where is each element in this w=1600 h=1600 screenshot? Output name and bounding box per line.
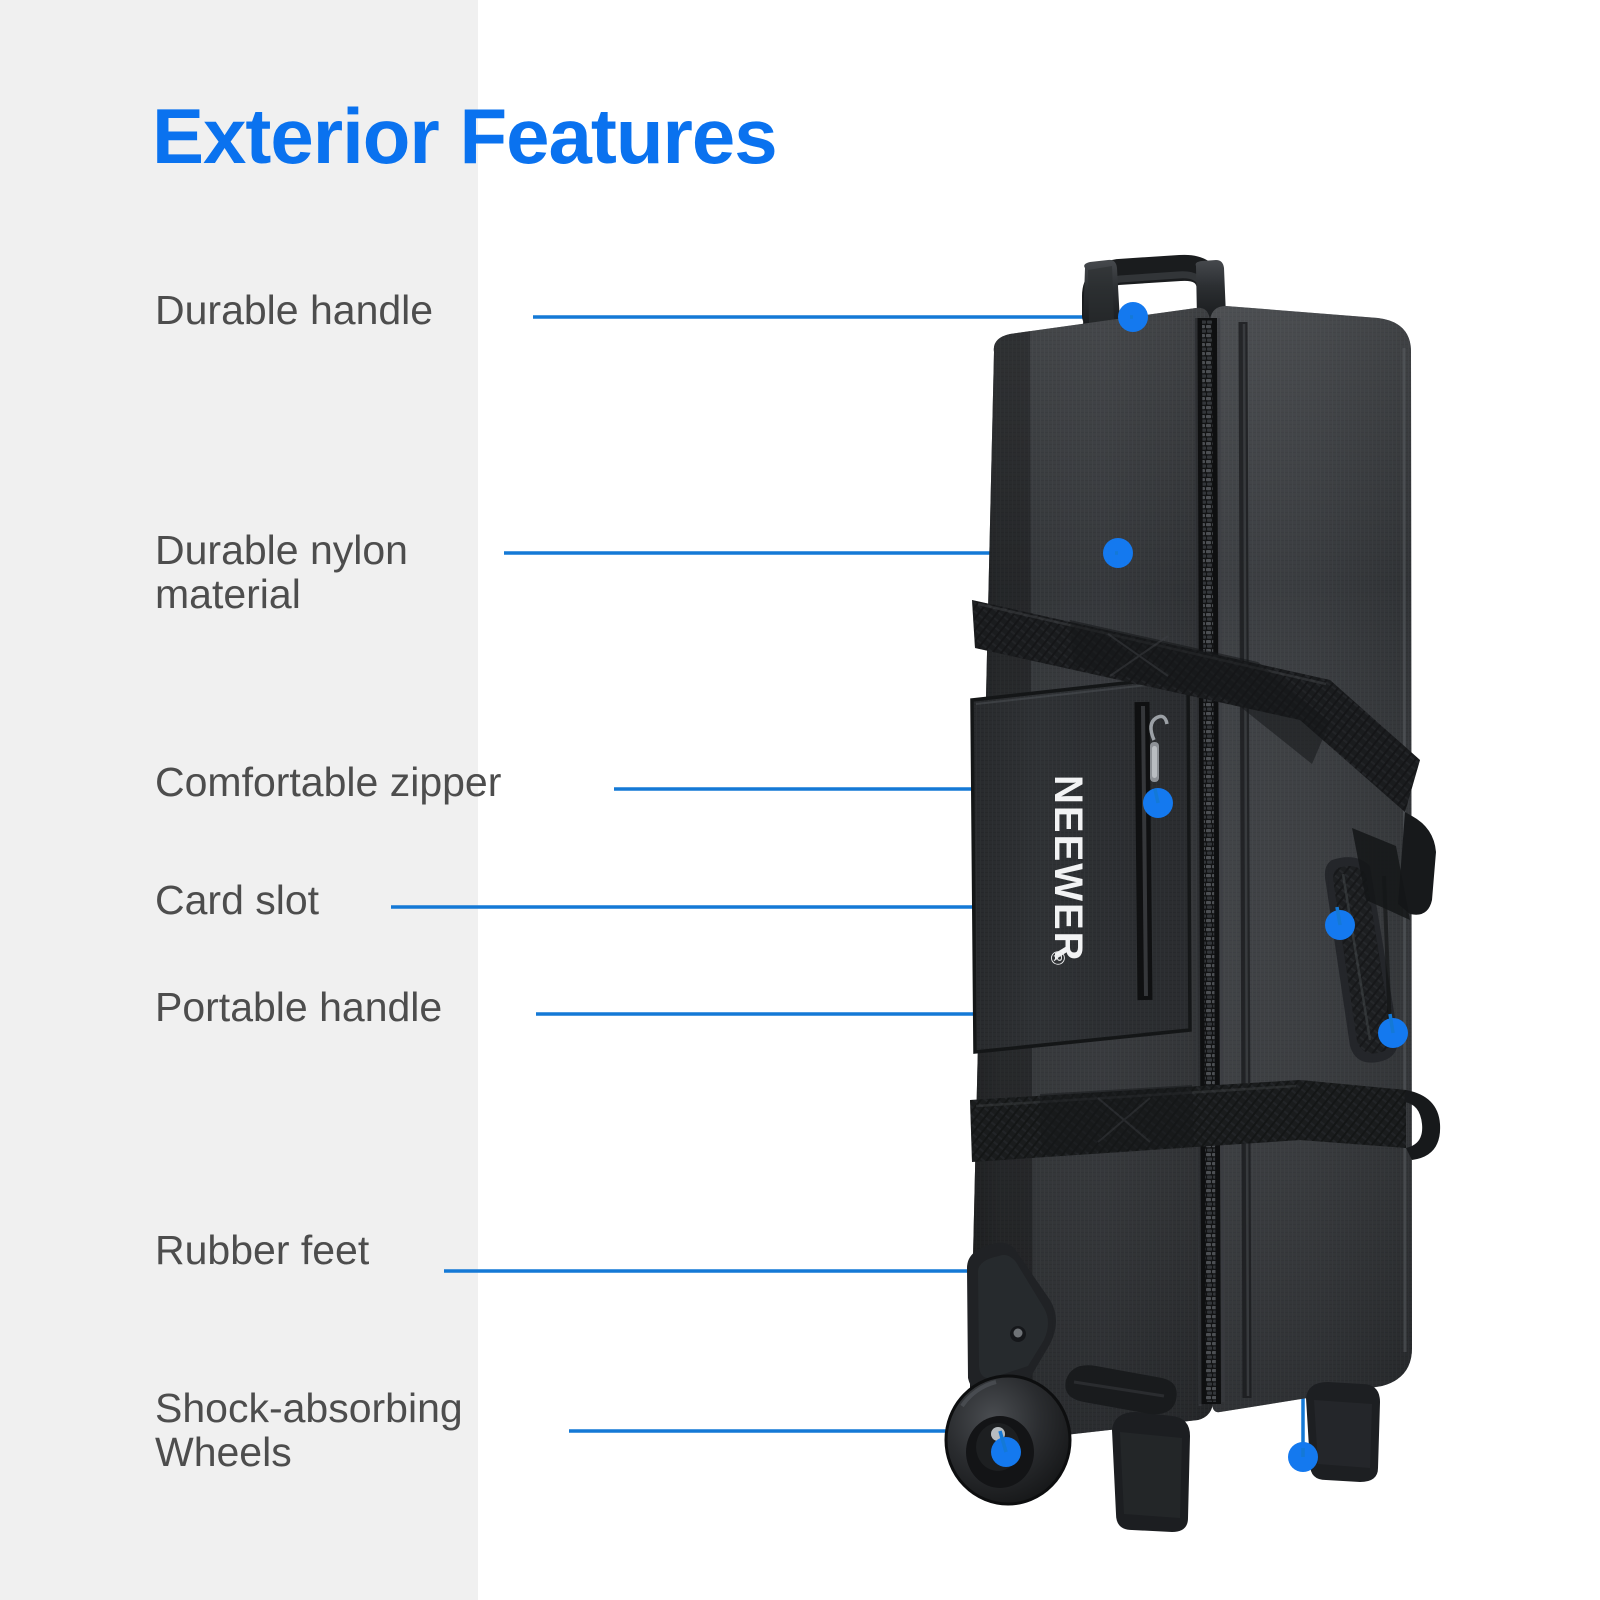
infographic-page: Exterior Features — [0, 0, 1600, 1600]
callout-label-shock-absorbing-wheels: Shock-absorbing Wheels — [155, 1386, 463, 1475]
page-title: Exterior Features — [152, 96, 777, 178]
right-background-panel — [478, 0, 1600, 1600]
callout-label-durable-handle: Durable handle — [155, 288, 433, 332]
callout-label-card-slot: Card slot — [155, 878, 319, 922]
callout-label-comfortable-zipper: Comfortable zipper — [155, 760, 501, 804]
callout-label-rubber-feet: Rubber feet — [155, 1228, 369, 1272]
callout-label-durable-nylon-material: Durable nylon material — [155, 528, 408, 617]
callout-label-portable-handle: Portable handle — [155, 985, 442, 1029]
